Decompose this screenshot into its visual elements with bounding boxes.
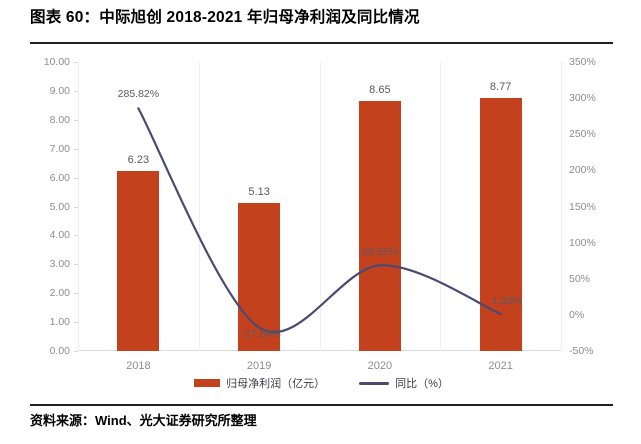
line-value-label: 285.82% [118,88,159,100]
y-axis-left-tick-label: 7.00 [50,144,70,154]
y-axis-left-tick-label: 0.00 [50,346,70,356]
line-value-label: -17.59% [242,328,281,340]
yoy-line-series [78,62,561,351]
y-axis-right-tick-label: 0% [569,310,584,320]
y-axis-right-tick-label: -50% [569,346,594,356]
legend-bar-swatch-icon [194,379,220,387]
figure-title-wrapper: 图表 60：中际旭创 2018-2021 年归母净利润及同比情况 [30,8,613,28]
x-axis-label-2020: 2020 [368,360,392,372]
y-axis-left-tick-label: 8.00 [50,115,70,125]
x-axis-label-2018: 2018 [126,360,150,372]
plot-area: 0.001.002.003.004.005.006.007.008.009.00… [78,62,561,351]
legend-item-profit[interactable]: 归母净利润（亿元） [194,375,325,391]
y-axis-right-tick-label: 150% [569,202,596,212]
legend-label-profit: 归母净利润（亿元） [226,375,325,391]
chart-area: 0.001.002.003.004.005.006.007.008.009.00… [30,52,613,397]
y-axis-left-tick-label: 3.00 [50,259,70,269]
y-axis-right-tick-label: 100% [569,238,596,248]
line-value-label: 68.55% [362,246,398,258]
y-axis-left-tick-label: 6.00 [50,173,70,183]
yoy-line-path [138,108,500,332]
y-axis-left-tick-label: 10.00 [44,57,70,67]
plot-inner: 0.001.002.003.004.005.006.007.008.009.00… [78,62,561,351]
x-axis-label-2021: 2021 [488,360,512,372]
x-axis-label-2019: 2019 [247,360,271,372]
title-divider [30,42,613,44]
y-axis-left-tick-label: 1.00 [50,317,70,327]
y-axis-left-tick-label: 5.00 [50,202,70,212]
line-value-label: 1.33% [492,295,522,307]
y-axis-right-tick-label: 200% [569,165,596,175]
y-axis-left-tick-label: 2.00 [50,288,70,298]
y-axis-right-tick-label: 300% [569,93,596,103]
page-title: 图表 60：中际旭创 2018-2021 年归母净利润及同比情况 [30,8,613,28]
legend-label-yoy: 同比（%） [395,375,449,391]
legend-item-yoy[interactable]: 同比（%） [359,375,449,391]
y-axis-right-tick-label: 50% [569,274,590,284]
legend-line-swatch-icon [359,382,389,385]
chart-legend: 归母净利润（亿元） 同比（%） [30,374,613,392]
y-axis-right-tick-label: 350% [569,57,596,67]
y-axis-left-tick-label: 4.00 [50,230,70,240]
y-axis-right-tick-label: 250% [569,129,596,139]
footer-divider [30,404,613,406]
vertical-gridline [561,62,562,351]
y-axis-left-tick [74,351,78,352]
y-axis-left-tick-label: 9.00 [50,86,70,96]
source-note: 资料来源：Wind、光大证券研究所整理 [30,411,613,431]
figure-container: 图表 60：中际旭创 2018-2021 年归母净利润及同比情况 0.001.0… [0,0,641,444]
